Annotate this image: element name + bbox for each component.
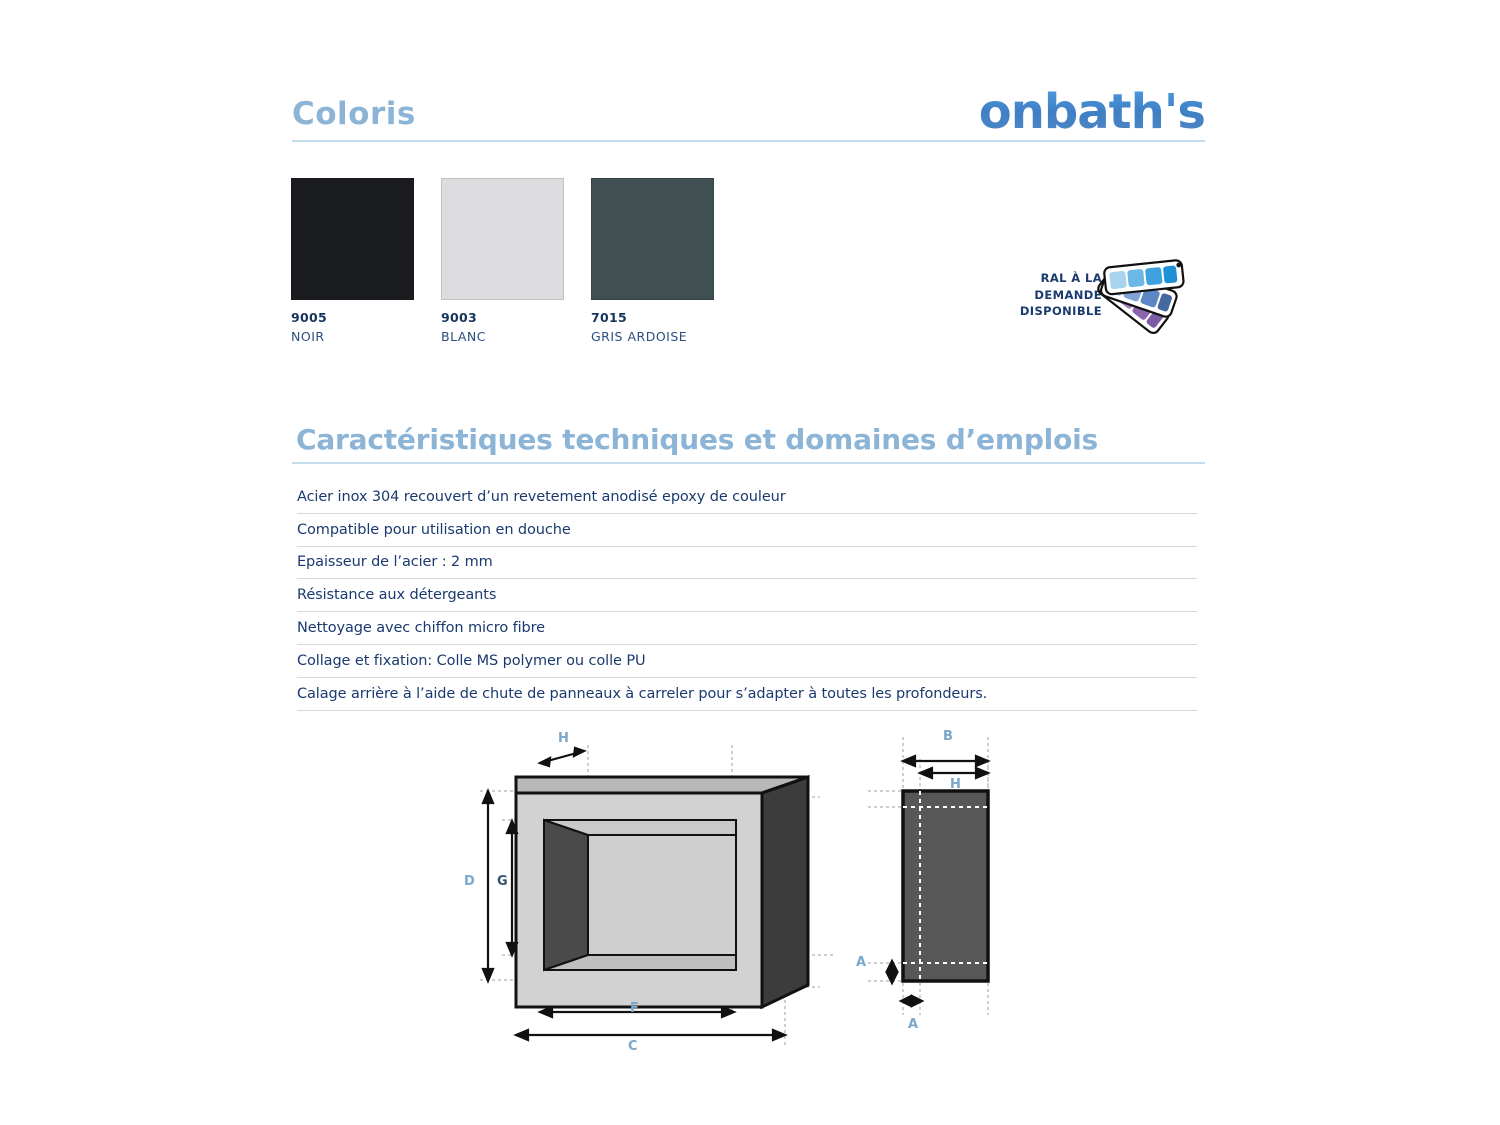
- dim-label-H-top: H: [558, 731, 569, 746]
- spec-row: Calage arrière à l’aide de chute de pann…: [297, 678, 1197, 711]
- ral-badge-text: RAL À LA DEMANDE DISPONIBLE: [984, 270, 1102, 320]
- swatch-code: 9005: [291, 310, 414, 325]
- dim-label-H-side: H: [950, 777, 961, 792]
- spec-row-text: Acier inox 304 recouvert d’un revetement…: [297, 489, 786, 505]
- brand-logo: onbath's: [979, 88, 1205, 136]
- spec-row-text: Calage arrière à l’aide de chute de pann…: [297, 686, 987, 702]
- swatch-name: GRIS ARDOISE: [591, 329, 714, 344]
- ral-badge-line1: RAL À LA DEMANDE: [984, 270, 1102, 303]
- spec-row-text: Epaisseur de l’acier : 2 mm: [297, 554, 493, 570]
- spec-row-text: Nettoyage avec chiffon micro fibre: [297, 620, 545, 636]
- dim-label-F: F: [630, 1001, 639, 1016]
- dim-label-G: G: [497, 874, 508, 889]
- niche-side-view: [848, 715, 1068, 1055]
- spec-row: Compatible pour utilisation en douche: [297, 514, 1197, 547]
- swatch-name: NOIR: [291, 329, 414, 344]
- swatch-chip-noir[interactable]: [291, 178, 414, 300]
- color-fan-deck-icon: [1096, 252, 1196, 338]
- document-page: Coloris onbath's 9005 NOIR 9003 BLANC 70…: [0, 0, 1500, 1125]
- swatch-code: 7015: [591, 310, 714, 325]
- specs-divider: [292, 462, 1205, 464]
- swatch-name: BLANC: [441, 329, 564, 344]
- swatch-9003[interactable]: 9003 BLANC: [441, 178, 564, 344]
- ral-badge-line2: DISPONIBLE: [984, 303, 1102, 320]
- specs-list: Acier inox 304 recouvert d’un revetement…: [297, 481, 1197, 711]
- swatch-code: 9003: [441, 310, 564, 325]
- spec-row: Nettoyage avec chiffon micro fibre: [297, 612, 1197, 645]
- spec-row-text: Collage et fixation: Colle MS polymer ou…: [297, 653, 646, 669]
- ral-on-demand-badge: RAL À LA DEMANDE DISPONIBLE: [984, 252, 1199, 338]
- swatch-chip-blanc[interactable]: [441, 178, 564, 300]
- specs-heading: Caractéristiques techniques et domaines …: [296, 423, 1098, 456]
- dim-label-A-horizontal: A: [908, 1017, 918, 1032]
- dim-label-C: C: [628, 1039, 638, 1054]
- spec-row: Epaisseur de l’acier : 2 mm: [297, 547, 1197, 580]
- spec-row-text: Compatible pour utilisation en douche: [297, 522, 571, 538]
- dim-label-D: D: [464, 874, 475, 889]
- swatch-9005[interactable]: 9005 NOIR: [291, 178, 414, 344]
- technical-drawings: H D G F C: [440, 715, 1080, 1055]
- swatch-chip-gris-ardoise[interactable]: [591, 178, 714, 300]
- dim-label-B: B: [943, 729, 953, 744]
- spec-row-text: Résistance aux détergeants: [297, 587, 496, 603]
- spec-row: Collage et fixation: Colle MS polymer ou…: [297, 645, 1197, 678]
- spec-row: Acier inox 304 recouvert d’un revetement…: [297, 481, 1197, 514]
- spec-row: Résistance aux détergeants: [297, 579, 1197, 612]
- dim-label-A-vertical: A: [856, 955, 866, 970]
- page-title: Coloris: [292, 96, 416, 132]
- swatch-7015[interactable]: 7015 GRIS ARDOISE: [591, 178, 714, 344]
- header-divider: [292, 140, 1205, 142]
